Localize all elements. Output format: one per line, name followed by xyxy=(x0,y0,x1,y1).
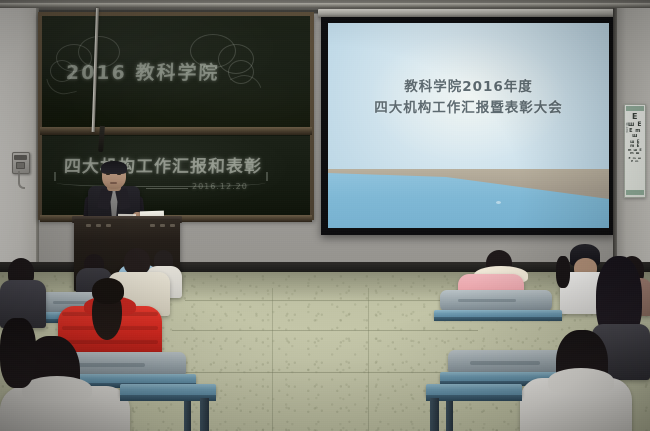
lectern-control xyxy=(150,224,155,227)
lectern-control xyxy=(96,224,101,227)
eye-chart-row: E m ш xyxy=(627,129,643,139)
slide-highlight xyxy=(496,201,501,204)
seat-back xyxy=(440,290,552,312)
student-hair xyxy=(0,318,36,388)
floor-seam xyxy=(272,288,273,431)
blackboard-date-text: 2016.12.20 xyxy=(192,182,248,191)
desk-leg xyxy=(430,398,439,431)
eye-chart-rows: E ш E E m ш ш E m E m ш E m ш E m ш E m xyxy=(627,113,643,164)
telephone-cord xyxy=(18,171,25,189)
chalk-tick xyxy=(54,172,56,181)
desk-edge xyxy=(434,317,562,321)
student-hood xyxy=(22,376,92,402)
eye-chart-row: E m ш E m xyxy=(627,157,643,163)
eye-chart: E ш E E m ш ш E m E m ш E m ш E m ш E m … xyxy=(624,104,646,198)
student-hood xyxy=(548,368,614,394)
eye-chart-row: E xyxy=(627,113,643,121)
slide-title-block: 教科学院2016年度 四大机构工作汇报暨表彰大会 xyxy=(328,77,609,119)
lectern-control xyxy=(170,224,175,227)
left-wall xyxy=(0,8,38,268)
student-hair xyxy=(124,248,150,274)
speaker-mouth xyxy=(110,182,117,184)
speaker-eye xyxy=(106,173,110,175)
blackboard-ledge xyxy=(40,127,312,135)
blackboard-top-text: 2016 教科学院 xyxy=(65,58,220,85)
lectern-control xyxy=(160,224,165,227)
eye-chart-footer-band xyxy=(626,190,644,195)
eye-chart-side-label: 视力表 xyxy=(625,123,629,134)
lectern-control xyxy=(106,224,111,227)
eye-chart-row: ш E m E xyxy=(627,140,643,148)
puffer-seam xyxy=(62,340,158,344)
desk-leg xyxy=(200,398,209,431)
speaker-hair xyxy=(101,161,127,174)
projection-screen: 教科学院2016年度 四大机构工作汇报暨表彰大会 xyxy=(328,23,609,228)
blackboard-upper-panel: 2016 教科学院 xyxy=(42,16,310,128)
floor-seam xyxy=(172,330,478,331)
student-hair xyxy=(556,256,570,288)
slide-title-line1: 教科学院2016年度 xyxy=(404,79,533,95)
floor-seam xyxy=(185,300,465,301)
right-pillar-edge xyxy=(613,8,617,270)
desk-edge xyxy=(426,395,522,401)
floor-seam xyxy=(368,288,369,431)
speaker-eye xyxy=(117,173,121,175)
student-head-back xyxy=(92,278,124,304)
blackboard-bottom-text: 四大机构工作汇报和表彰 xyxy=(64,152,263,177)
chalk-tick xyxy=(266,172,268,181)
blackboard-lower-panel: 四大机构工作汇报和表彰 2016.12.20 xyxy=(42,136,310,216)
eye-chart-row: m ш E m ш xyxy=(627,149,643,156)
classroom-photo: 2016 教科学院 四大机构工作汇报和表彰 2016.12.20 教科学院201… xyxy=(0,0,650,431)
lectern-control xyxy=(86,224,91,227)
slide-title-line2: 四大机构工作汇报暨表彰大会 xyxy=(328,98,609,119)
eye-chart-header-band xyxy=(626,106,644,111)
